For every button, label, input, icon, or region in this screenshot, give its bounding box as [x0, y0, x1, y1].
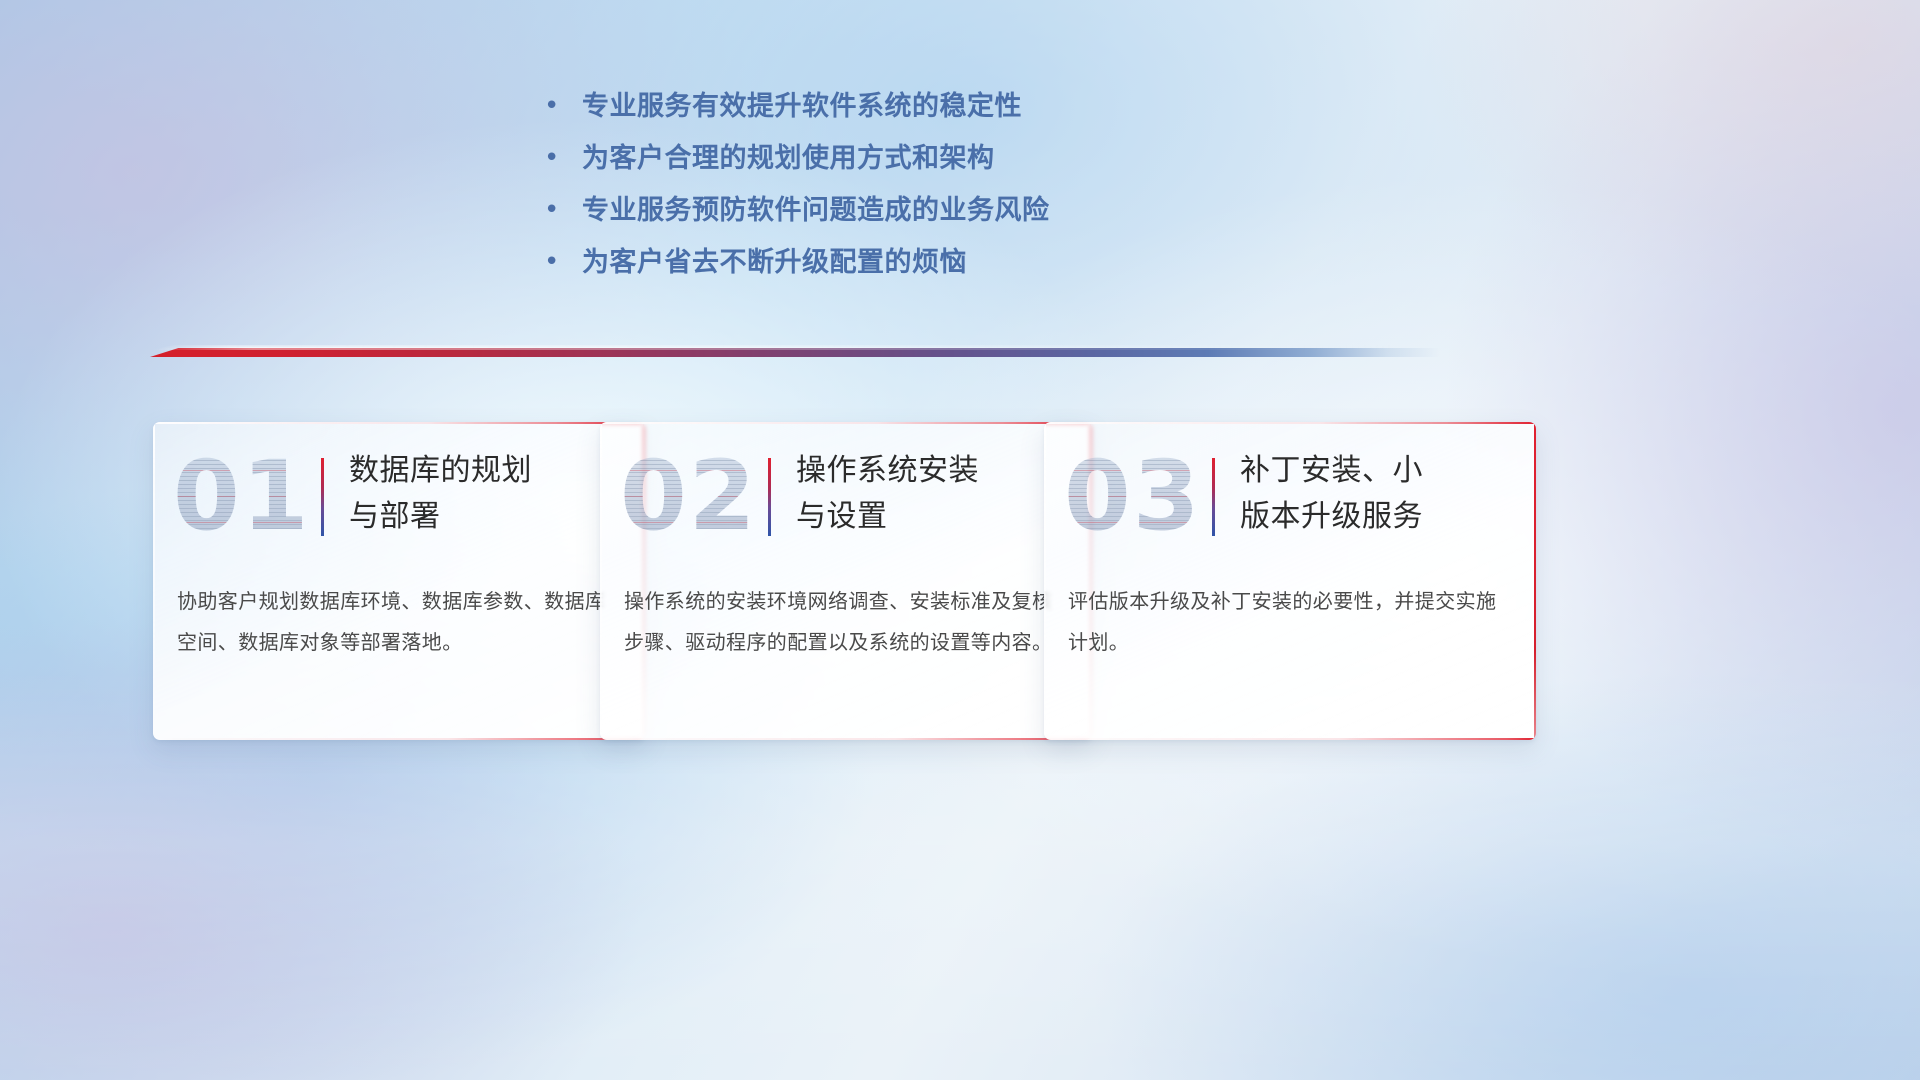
service-card-03[interactable]: 03 03 补丁安装、小 版本升级服务 评估版本升级及补丁安装的必要性，并提交实…: [1044, 422, 1536, 740]
card-title-divider-bar: [321, 458, 324, 536]
list-item: • 专业服务预防软件问题造成的业务风险: [536, 190, 1296, 242]
service-card-02[interactable]: 02 02 操作系统安装 与设置 操作系统的安装环境网络调查、安装标准及复核步骤…: [600, 422, 1092, 740]
bullet-text: 专业服务有效提升软件系统的稳定性: [582, 86, 1022, 126]
card-number-watermark: 03: [1064, 444, 1202, 548]
card-top-accent: [600, 422, 1092, 424]
list-item: • 专业服务有效提升软件系统的稳定性: [536, 86, 1296, 138]
card-header: 02 02 操作系统安装 与设置: [600, 436, 1092, 554]
list-item: • 为客户省去不断升级配置的烦恼: [536, 242, 1296, 294]
card-title-line: 与部署: [349, 494, 617, 540]
card-title-line: 与设置: [796, 494, 1064, 540]
card-description: 操作系统的安装环境网络调查、安装标准及复核步骤、驱动程序的配置以及系统的设置等内…: [624, 582, 1068, 664]
bullet-marker-icon: •: [536, 242, 582, 282]
card-bottom-accent: [600, 738, 1092, 740]
card-title-line: 补丁安装、小: [1240, 448, 1508, 494]
card-top-accent: [1044, 422, 1536, 424]
card-title-divider-bar: [768, 458, 771, 536]
bullet-text: 为客户合理的规划使用方式和架构: [582, 138, 995, 178]
card-title: 数据库的规划 与部署: [349, 448, 617, 540]
list-item: • 为客户合理的规划使用方式和架构: [536, 138, 1296, 190]
card-number-watermark: 01: [173, 444, 311, 548]
card-description: 协助客户规划数据库环境、数据库参数、数据库空间、数据库对象等部署落地。: [177, 582, 621, 664]
card-title: 操作系统安装 与设置: [796, 448, 1064, 540]
bullet-marker-icon: •: [536, 190, 582, 230]
service-card-group: 01 01 数据库的规划 与部署 协助客户规划数据库环境、数据库参数、数据库空间…: [0, 422, 1920, 752]
card-description: 评估版本升级及补丁安装的必要性，并提交实施计划。: [1068, 582, 1512, 664]
card-top-accent: [153, 422, 645, 424]
bullet-text: 专业服务预防软件问题造成的业务风险: [582, 190, 1050, 230]
bullet-marker-icon: •: [536, 138, 582, 178]
card-header: 03 03 补丁安装、小 版本升级服务: [1044, 436, 1536, 554]
card-bottom-accent: [153, 738, 645, 740]
card-title-line: 操作系统安装: [796, 448, 1064, 494]
card-header: 01 01 数据库的规划 与部署: [153, 436, 645, 554]
card-title: 补丁安装、小 版本升级服务: [1240, 448, 1508, 540]
card-bottom-accent: [1044, 738, 1536, 740]
bullet-marker-icon: •: [536, 86, 582, 126]
benefits-bullet-list: • 专业服务有效提升软件系统的稳定性 • 为客户合理的规划使用方式和架构 • 专…: [536, 86, 1296, 294]
card-number-watermark: 02: [620, 444, 758, 548]
service-card-01[interactable]: 01 01 数据库的规划 与部署 协助客户规划数据库环境、数据库参数、数据库空间…: [153, 422, 645, 740]
card-title-line: 版本升级服务: [1240, 494, 1508, 540]
card-title-divider-bar: [1212, 458, 1215, 536]
section-divider: [150, 342, 1440, 364]
card-title-line: 数据库的规划: [349, 448, 617, 494]
bullet-text: 为客户省去不断升级配置的烦恼: [582, 242, 967, 282]
divider-highlight: [150, 347, 1440, 350]
